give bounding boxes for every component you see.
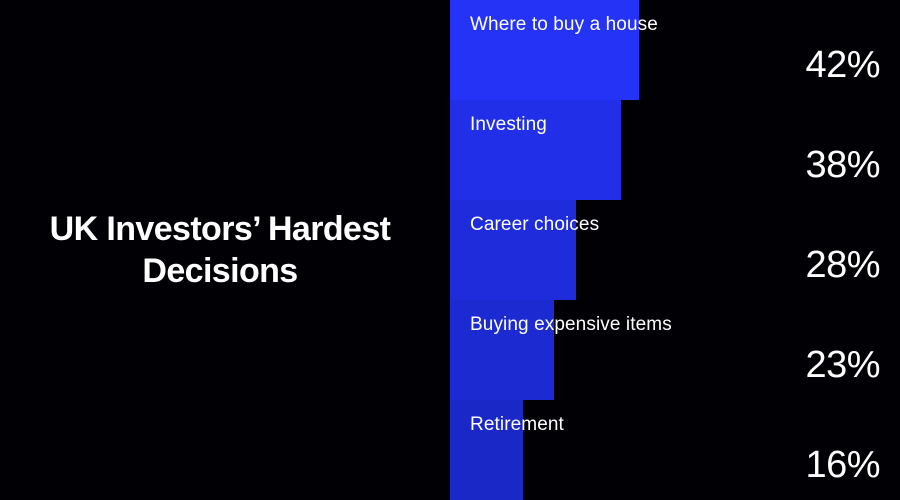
bar-row[interactable]: Retirement 16%	[0, 400, 900, 500]
bar-value: 38%	[805, 144, 880, 187]
bar-row[interactable]: Where to buy a house 42%	[0, 0, 900, 100]
bar-label: Where to buy a house	[470, 14, 658, 36]
bar-value: 23%	[805, 344, 880, 387]
bar-label: Buying expensive items	[470, 314, 672, 336]
bar-row[interactable]: Investing 38%	[0, 100, 900, 200]
bar-chart: Where to buy a house 42% Investing 38% C…	[0, 0, 900, 500]
bar-value: 28%	[805, 244, 880, 287]
bar-value: 42%	[805, 44, 880, 87]
bar-value: 16%	[805, 444, 880, 487]
infographic-canvas: UK Investors’ Hardest Decisions Where to…	[0, 0, 900, 500]
bar-row[interactable]: Career choices 28%	[0, 200, 900, 300]
bar-label: Retirement	[470, 414, 564, 436]
bar-label: Investing	[470, 114, 547, 136]
bar-row[interactable]: Buying expensive items 23%	[0, 300, 900, 400]
bar-label: Career choices	[470, 214, 599, 236]
